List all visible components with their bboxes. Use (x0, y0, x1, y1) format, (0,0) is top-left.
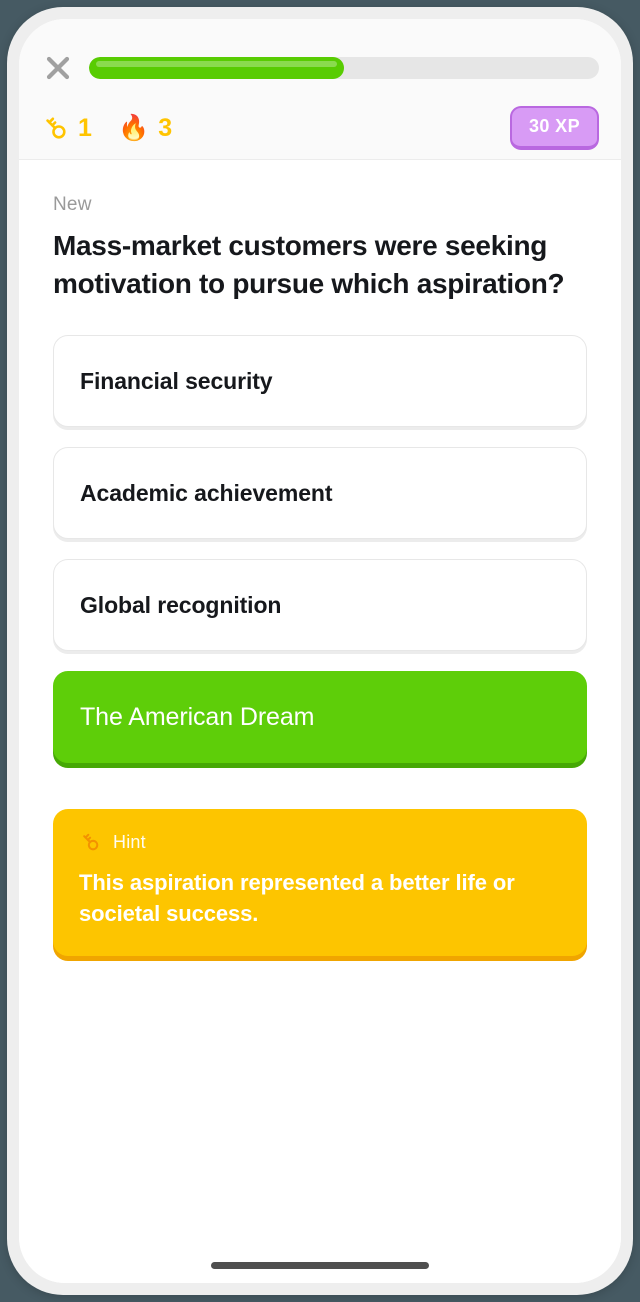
stats-row: 1 🔥 3 30 XP (41, 97, 599, 159)
answer-option-3[interactable]: Global recognition (53, 559, 587, 651)
answer-option-2[interactable]: Academic achievement (53, 447, 587, 539)
answer-option-label: Academic achievement (80, 480, 332, 507)
phone-frame: 1 🔥 3 30 XP New Mass-market customers we… (7, 7, 633, 1295)
status-badge: New (53, 194, 587, 216)
close-button[interactable] (41, 51, 75, 85)
app-header: 1 🔥 3 30 XP (19, 19, 621, 160)
progress-row (41, 39, 599, 97)
hint-box[interactable]: Hint This aspiration represented a bette… (53, 809, 587, 955)
streak-count: 3 (158, 114, 172, 143)
flame-icon: 🔥 (118, 116, 149, 141)
answer-options-list: Financial securityAcademic achievementGl… (53, 335, 587, 763)
hint-text: This aspiration represented a better lif… (79, 867, 561, 929)
answer-option-4[interactable]: The American Dream (53, 671, 587, 763)
xp-badge[interactable]: 30 XP (510, 106, 599, 150)
answer-option-1[interactable]: Financial security (53, 335, 587, 427)
hint-header: Hint (79, 831, 561, 853)
phone-screen: 1 🔥 3 30 XP New Mass-market customers we… (19, 19, 621, 1283)
question-text: Mass-market customers were seeking motiv… (53, 227, 587, 302)
answer-option-label: Global recognition (80, 592, 281, 619)
home-indicator[interactable] (211, 1262, 429, 1269)
key-icon (41, 114, 69, 142)
home-area (19, 1231, 621, 1283)
streak-stat[interactable]: 🔥 3 (118, 114, 172, 143)
progress-bar-fill (89, 57, 344, 79)
quiz-body: New Mass-market customers were seeking m… (19, 160, 621, 1231)
hint-title: Hint (113, 832, 146, 853)
keys-stat[interactable]: 1 (41, 114, 92, 143)
close-x-icon (43, 53, 73, 83)
key-icon (79, 831, 101, 853)
answer-option-label: The American Dream (80, 703, 314, 732)
answer-option-label: Financial security (80, 368, 273, 395)
progress-bar (89, 57, 599, 79)
keys-count: 1 (78, 114, 92, 143)
